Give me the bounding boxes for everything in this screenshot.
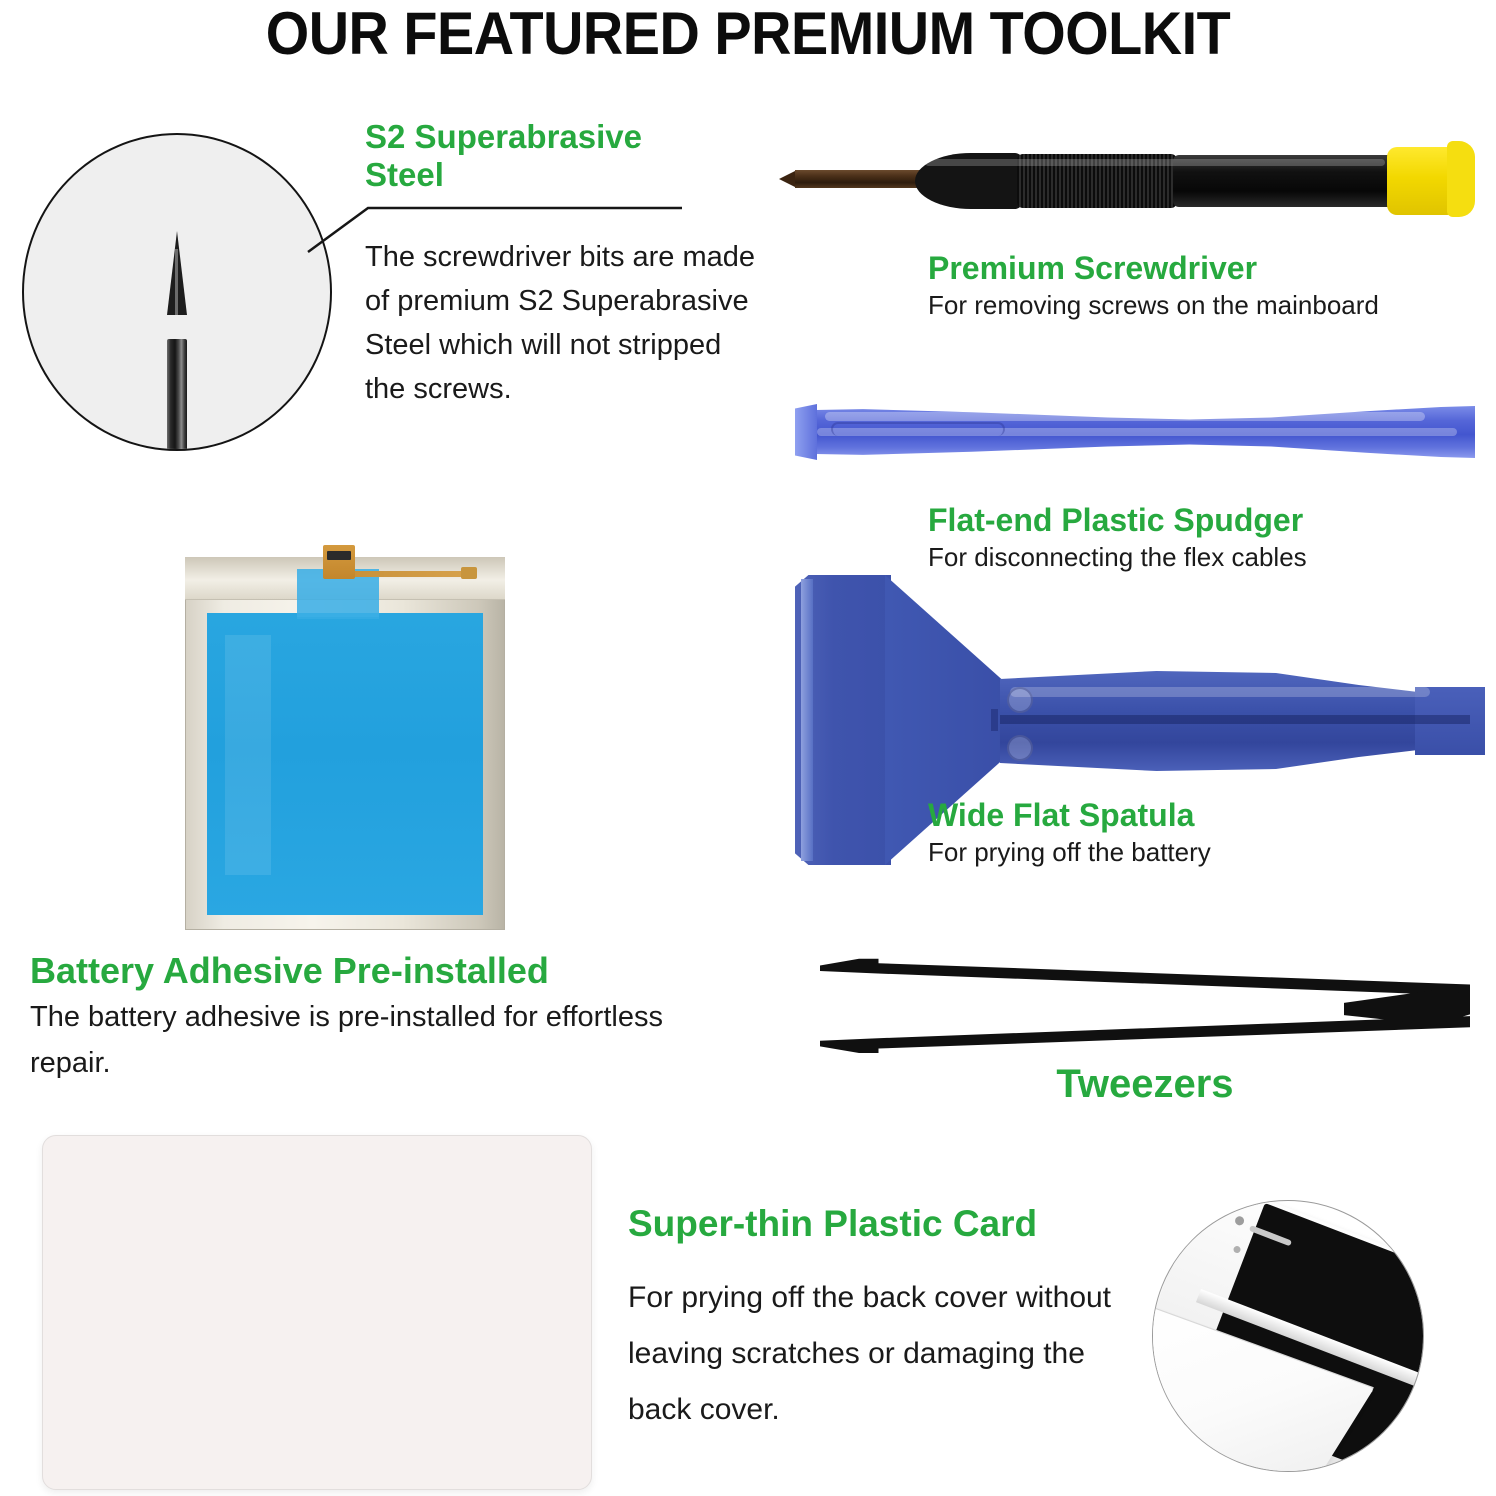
spudger-caption: Flat-end Plastic Spudger For disconnecti… — [928, 500, 1448, 574]
screwdriver-heading: Premium Screwdriver — [928, 248, 1448, 288]
battery-caption: Battery Adhesive Pre-installed The batte… — [30, 948, 730, 1086]
s2-steel-body: The screwdriver bits are made of premium… — [365, 235, 760, 411]
spatula-blade-edge — [801, 579, 813, 861]
battery-sheen — [225, 635, 271, 875]
plastic-card-caption: Super-thin Plastic Card For prying off t… — [628, 1200, 1148, 1438]
spatula-heading: Wide Flat Spatula — [928, 795, 1448, 835]
spatula-subtitle: For prying off the battery — [928, 835, 1448, 869]
spudger-groove — [831, 422, 1005, 436]
battery-heading: Battery Adhesive Pre-installed — [30, 948, 730, 994]
plastic-card-body: For prying off the back cover without le… — [628, 1270, 1148, 1438]
screwdriver-bit-closeup-icon — [22, 133, 332, 451]
spudger-subtitle: For disconnecting the flex cables — [928, 540, 1448, 574]
page-title: OUR FEATURED PREMIUM TOOLKIT — [52, 0, 1443, 70]
infographic-page: OUR FEATURED PREMIUM TOOLKIT S2 Superabr… — [0, 0, 1496, 1496]
spatula-highlight — [1010, 687, 1430, 697]
spudger-heading: Flat-end Plastic Spudger — [928, 500, 1448, 540]
tweezers-tool-icon — [820, 952, 1470, 1062]
spatula-dot-bottom — [1007, 735, 1033, 761]
plastic-spudger-tool-icon — [795, 392, 1475, 472]
screwdriver-cap-flare — [1447, 141, 1475, 217]
phone-with-card-photo-icon — [1152, 1200, 1424, 1472]
spudger-flat-end — [795, 404, 817, 460]
screwdriver-caption: Premium Screwdriver For removing screws … — [928, 248, 1448, 322]
spatula-center-line — [1000, 715, 1470, 724]
spudger-highlight — [825, 412, 1425, 421]
spatula-notch — [991, 709, 998, 731]
battery-flex-tail — [353, 571, 473, 577]
bit-shaft-shape — [167, 339, 187, 451]
s2-steel-heading: S2 Superabrasive Steel — [365, 118, 725, 194]
screwdriver-bit-shaft — [795, 170, 923, 188]
screwdriver-subtitle: For removing screws on the mainboard — [928, 288, 1448, 322]
spatula-dot-top — [1007, 687, 1033, 713]
battery-flex-pad — [461, 567, 477, 579]
screwdriver-highlight — [925, 159, 1385, 166]
plastic-card-heading: Super-thin Plastic Card — [628, 1200, 1148, 1248]
tweezers-heading: Tweezers — [820, 1058, 1470, 1110]
plastic-card-icon — [42, 1135, 592, 1490]
battery-body-text: The battery adhesive is pre-installed fo… — [30, 994, 730, 1086]
screwdriver-tool-icon — [795, 145, 1475, 217]
battery-connector-chip — [327, 551, 351, 560]
bit-tip-highlight — [175, 249, 178, 315]
spatula-caption: Wide Flat Spatula For prying off the bat… — [928, 795, 1448, 869]
battery-with-adhesive-icon — [185, 545, 505, 930]
